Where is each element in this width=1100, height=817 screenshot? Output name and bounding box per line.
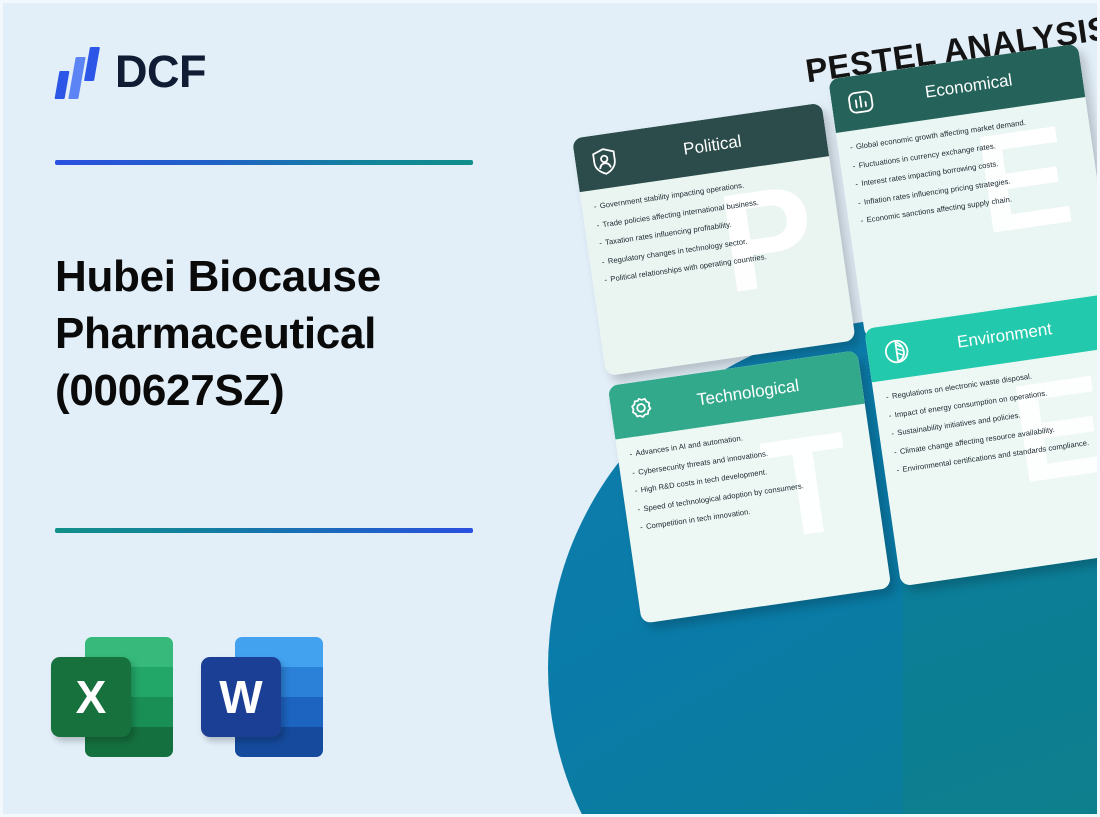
bar-chart-icon xyxy=(844,85,878,119)
card-body-political: P Government stability impacting operati… xyxy=(580,156,856,376)
brand-logo[interactable]: DCF xyxy=(55,45,206,99)
pestel-card-technological[interactable]: Technological T Advances in AI and autom… xyxy=(608,350,892,623)
pestel-card-economical[interactable]: Economical E Global economic growth affe… xyxy=(828,44,1100,339)
leaf-icon xyxy=(880,335,914,369)
page-title: Hubei Biocause Pharmaceutical (000627SZ) xyxy=(55,248,485,420)
card-title-environment: Environment xyxy=(910,312,1100,359)
bullet-list-economical: Global economic growth affecting market … xyxy=(849,111,1087,226)
pestel-card-environment[interactable]: Environment E Regulations on electronic … xyxy=(864,293,1100,586)
bar-logo-icon xyxy=(55,45,101,99)
word-letter: W xyxy=(201,657,281,737)
page-title-line-2: Pharmaceutical xyxy=(55,305,485,362)
card-body-technological: T Advances in AI and automation. Cyberse… xyxy=(615,404,891,624)
page-title-line-3: (000627SZ) xyxy=(55,362,485,419)
divider-top xyxy=(55,160,473,165)
poster-canvas: DCF Hubei Biocause Pharmaceutical (00062… xyxy=(0,0,1100,817)
pestel-grid: Political P Government stability impacti… xyxy=(572,65,1100,623)
pestel-card-political[interactable]: Political P Government stability impacti… xyxy=(572,103,856,376)
bullet-list-technological: Advances in AI and automation. Cybersecu… xyxy=(629,417,867,532)
excel-letter: X xyxy=(51,657,131,737)
bullet-list-political: Government stability impacting operation… xyxy=(593,170,831,285)
excel-file-icon[interactable]: X xyxy=(51,633,173,761)
download-formats: X W xyxy=(51,633,323,761)
pestel-board: PESTEL ANALYSIS Political P xyxy=(572,64,1100,633)
person-shield-icon xyxy=(588,144,622,178)
page-title-line-1: Hubei Biocause xyxy=(55,248,485,305)
brand-name: DCF xyxy=(115,46,206,98)
card-body-environment: E Regulations on electronic waste dispos… xyxy=(872,346,1100,586)
word-file-icon[interactable]: W xyxy=(201,633,323,761)
left-panel: DCF Hubei Biocause Pharmaceutical (00062… xyxy=(3,3,523,817)
divider-bottom xyxy=(55,528,473,533)
bullet-list-environment: Regulations on electronic waste disposal… xyxy=(885,360,1100,475)
gear-icon xyxy=(623,392,657,426)
